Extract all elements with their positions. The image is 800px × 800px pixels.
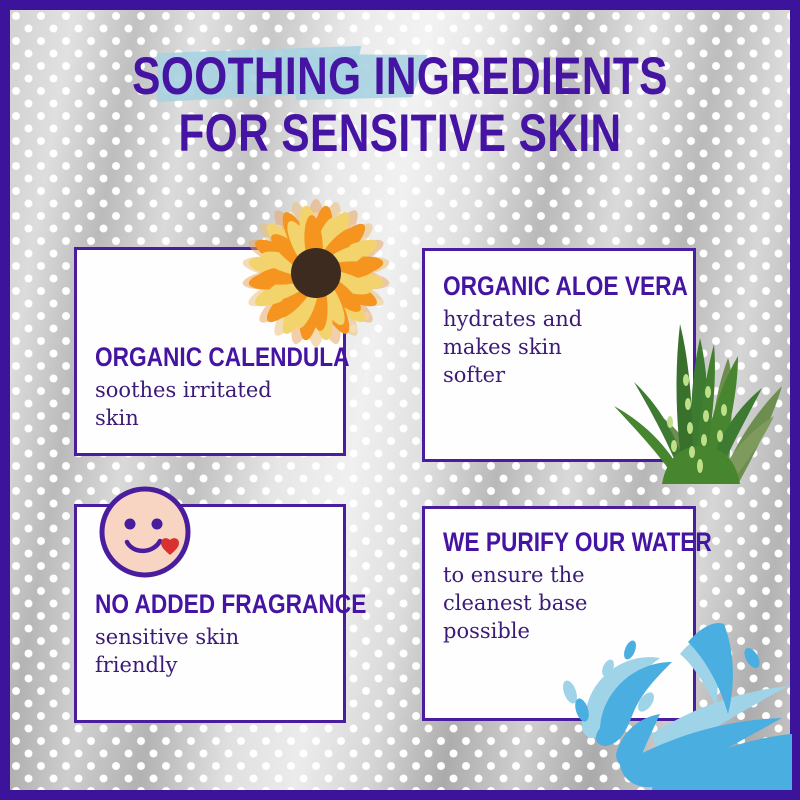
- infographic-poster: SOOTHING INGREDIENTS FOR SENSITIVE SKIN …: [0, 0, 800, 800]
- card-no-added-fragrance: NO ADDED FRAGRANCE sensitive skin friend…: [74, 504, 346, 723]
- card-body: soothes irritated skin: [95, 376, 325, 432]
- card-body: hydrates and makes skin softer: [443, 305, 675, 389]
- card-we-purify-our-water: WE PURIFY OUR WATER to ensure the cleane…: [422, 506, 696, 721]
- card-title: ORGANIC ALOE VERA: [443, 271, 638, 301]
- card-body: to ensure the cleanest base possible: [443, 561, 675, 645]
- card-title: WE PURIFY OUR WATER: [443, 527, 638, 557]
- card-title: ORGANIC CALENDULA: [95, 342, 288, 372]
- title-line-1: SOOTHING INGREDIENTS: [80, 48, 720, 105]
- card-text-block: ORGANIC CALENDULA soothes irritated skin: [77, 342, 343, 432]
- card-organic-aloe-vera: ORGANIC ALOE VERA hydrates and makes ski…: [422, 248, 696, 462]
- card-text-block: NO ADDED FRAGRANCE sensitive skin friend…: [77, 589, 343, 679]
- card-title: NO ADDED FRAGRANCE: [95, 589, 288, 619]
- card-organic-calendula: ORGANIC CALENDULA soothes irritated skin: [74, 247, 346, 456]
- title-line-2: FOR SENSITIVE SKIN: [80, 105, 720, 162]
- card-text-block: WE PURIFY OUR WATER to ensure the cleane…: [425, 527, 693, 645]
- poster-title: SOOTHING INGREDIENTS FOR SENSITIVE SKIN: [0, 48, 800, 162]
- card-body: sensitive skin friendly: [95, 623, 325, 679]
- card-text-block: ORGANIC ALOE VERA hydrates and makes ski…: [425, 271, 693, 389]
